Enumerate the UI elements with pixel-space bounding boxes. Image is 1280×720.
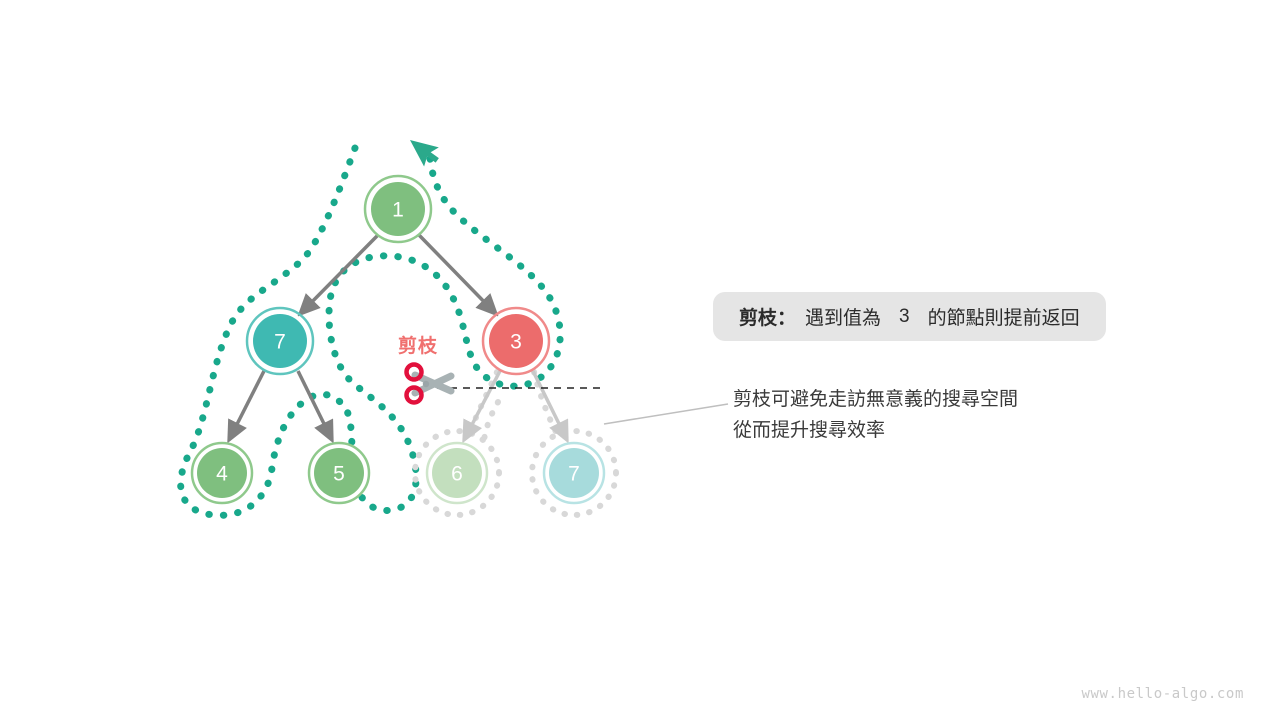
edge-1-7 (300, 235, 378, 314)
node-label-4: 4 (216, 463, 228, 486)
tree-node-7-left[interactable]: 7 (247, 308, 313, 374)
prune-description-pill: 剪枝： 遇到值為 3 的節點則提前返回 (713, 292, 1106, 341)
node-label-7-left: 7 (274, 331, 286, 354)
node-label-1: 1 (392, 199, 404, 222)
edge-3-6 (464, 371, 500, 440)
edge-1-3 (419, 235, 496, 314)
caption-leader-line (604, 404, 728, 424)
diagram-canvas: 1 7 3 4 (0, 0, 1280, 720)
explanation-caption: 剪枝可避免走訪無意義的搜尋空間 從而提升搜尋效率 (733, 385, 1018, 447)
prune-pill-value: 3 (899, 306, 910, 328)
caption-line-1: 剪枝可避免走訪無意義的搜尋空間 (733, 385, 1018, 416)
edge-3-7f (533, 371, 567, 440)
prune-label: 剪枝 (398, 331, 438, 358)
node-label-3: 3 (510, 331, 522, 354)
scissors-icon (407, 365, 452, 403)
prune-pill-bold-label: 剪枝： (739, 303, 796, 330)
tree-node-3[interactable]: 3 (483, 308, 549, 374)
caption-line-2: 從而提升搜尋效率 (733, 416, 1018, 447)
tree-node-4[interactable]: 4 (192, 443, 252, 503)
tree-node-6-pruned[interactable]: 6 (427, 443, 487, 503)
edge-7-4 (229, 371, 264, 440)
prune-pill-text-a: 遇到值為 (805, 303, 881, 330)
node-label-5: 5 (333, 463, 345, 486)
tree-node-5[interactable]: 5 (309, 443, 369, 503)
watermark: www.hello-algo.com (1081, 686, 1244, 702)
tree-node-7-pruned[interactable]: 7 (544, 443, 604, 503)
tree-node-1[interactable]: 1 (365, 176, 431, 242)
cursor-arrow-icon (410, 130, 444, 169)
node-label-7-right: 7 (568, 463, 580, 486)
node-label-6: 6 (451, 463, 463, 486)
tree-graphics-layer: 1 7 3 4 (0, 0, 1280, 720)
prune-pill-text-b: 的節點則提前返回 (928, 303, 1080, 330)
